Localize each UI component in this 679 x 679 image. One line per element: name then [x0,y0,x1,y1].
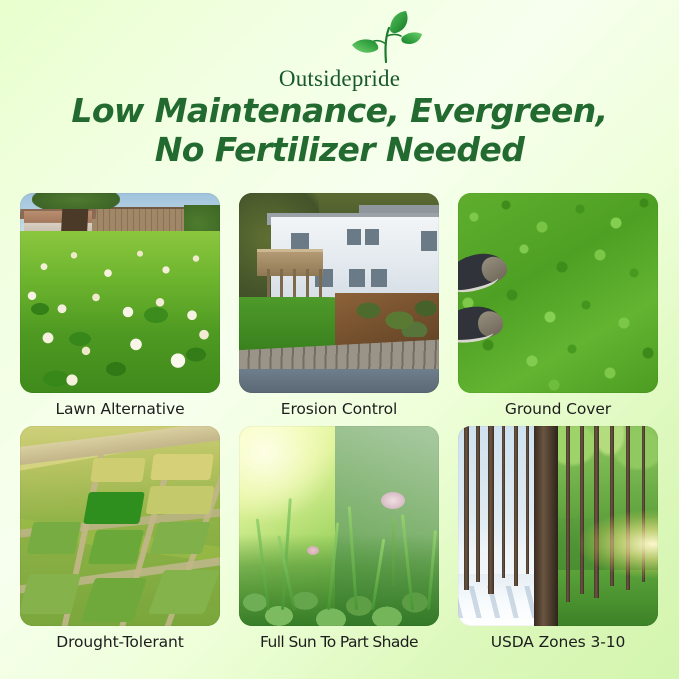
feature-image-lawn-alternative [20,193,220,393]
sunburst-icon [578,510,658,578]
shrubs-layer [351,293,439,337]
infographic-canvas: Outsidepride Low Maintenance, Evergreen,… [0,0,679,679]
dry-plot [90,458,145,482]
feature-caption: Lawn Alternative [20,400,220,418]
feature-image-erosion-control [239,193,439,393]
feature-caption: Full Sun To Part Shade [239,633,439,651]
feature-grid: Lawn Alternative [20,193,659,651]
tree-canopy-layer [32,193,120,209]
window [349,269,365,287]
window [371,269,387,287]
summer-tree-trunk [566,426,570,602]
feature-caption: Ground Cover [458,400,658,418]
feature-image-ground-cover [458,193,658,393]
feature-card-full-sun-part-shade: Full Sun To Part Shade [239,426,439,651]
feature-card-usda-zones: USDA Zones 3-10 [458,426,658,651]
feature-image-full-sun-part-shade [239,426,439,626]
feature-caption: Erosion Control [239,400,439,418]
headline-line-2: No Fertilizer Needed [0,131,679,170]
dry-plot [146,486,215,514]
brand-name: Outsidepride [279,67,400,90]
winter-tree-trunk [488,426,494,594]
winter-tree-trunk [514,426,518,586]
page-title: Low Maintenance, Evergreen, No Fertilize… [0,92,679,169]
brand-lockup: Outsidepride [0,8,679,92]
feature-card-lawn-alternative: Lawn Alternative [20,193,220,418]
plot [27,522,82,554]
center-tree-trunk [534,426,558,626]
window [347,229,361,245]
clover-blooms-layer [20,231,220,393]
plot [149,522,210,554]
winter-tree-trunk [502,426,505,578]
winter-tree-trunk [464,426,469,590]
window [421,231,437,251]
feature-card-erosion-control: Erosion Control [239,193,439,418]
clover-bloom-stem [392,518,395,586]
window [365,229,379,245]
winter-tree-trunk [526,426,529,574]
feature-image-drought-tolerant [20,426,220,626]
feature-card-drought-tolerant: Drought-Tolerant [20,426,220,651]
headline-line-1: Low Maintenance, Evergreen, [0,92,679,131]
feature-image-usda-zones [458,426,658,626]
sprout-leaves-icon [340,10,426,64]
road-layer [239,369,439,393]
deck-posts-layer [257,269,323,297]
plot [20,574,81,614]
feature-caption: Drought-Tolerant [20,633,220,651]
winter-tree-trunk [476,426,480,582]
clover-bloom [381,492,405,509]
clover-texture-layer [458,193,658,393]
plot [88,530,144,564]
sun-glow-layer [239,426,335,522]
dry-plot [150,454,214,480]
feature-caption: USDA Zones 3-10 [458,633,658,651]
feature-card-ground-cover: Ground Cover [458,193,658,418]
clover-bloom-small [307,546,319,555]
green-plot [83,492,145,524]
